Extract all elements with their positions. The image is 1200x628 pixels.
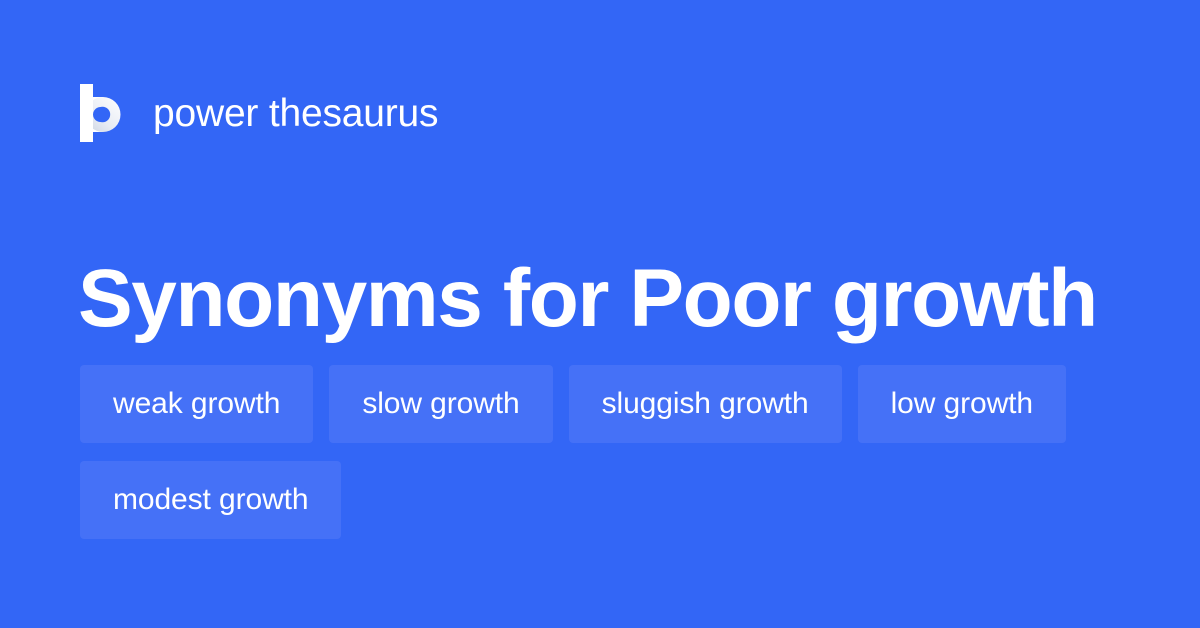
synonym-chip[interactable]: weak growth — [80, 365, 313, 443]
synonym-chip[interactable]: low growth — [858, 365, 1066, 443]
power-thesaurus-b-logo-icon — [80, 84, 126, 142]
share-card: power thesaurus Synonyms for Poor growth… — [0, 0, 1200, 628]
brand-logo[interactable]: power thesaurus — [80, 82, 438, 144]
synonym-chip-list: weak growth slow growth sluggish growth … — [80, 365, 1140, 539]
page-title: Synonyms for Poor growth — [78, 251, 1138, 347]
synonym-chip[interactable]: sluggish growth — [569, 365, 842, 443]
synonym-chip[interactable]: slow growth — [329, 365, 552, 443]
brand-name: power thesaurus — [153, 94, 438, 133]
synonym-chip[interactable]: modest growth — [80, 461, 341, 539]
